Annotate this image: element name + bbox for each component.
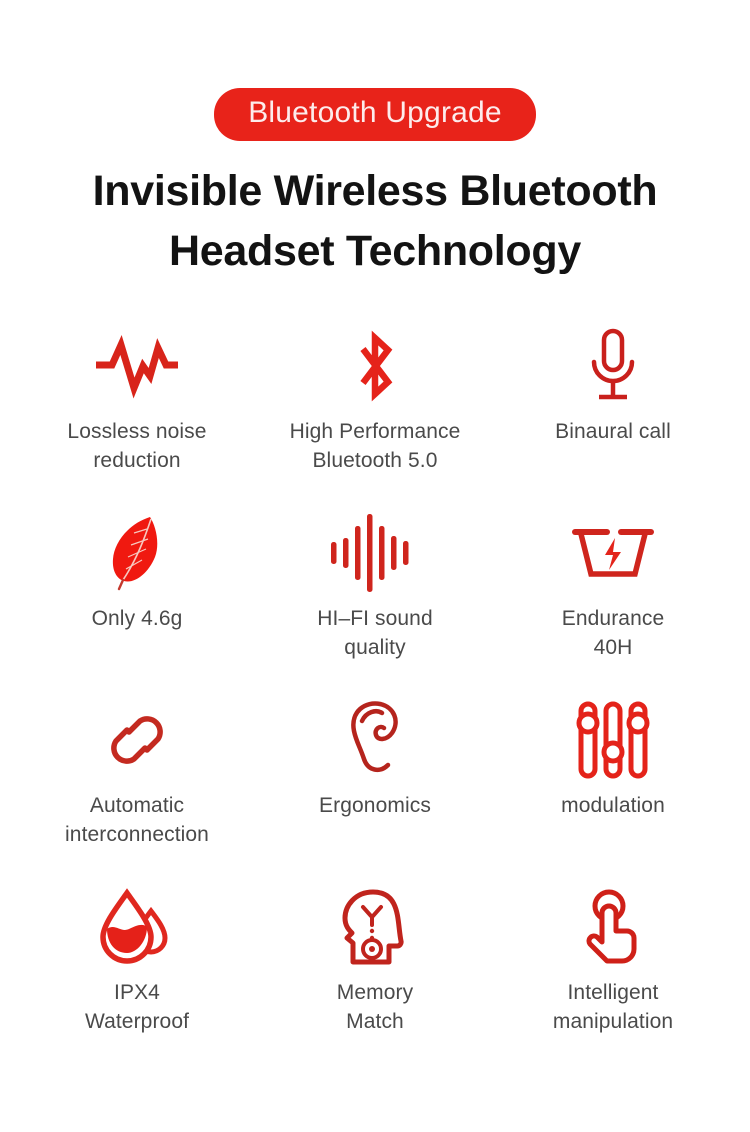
- feature-label: HI–FI sound quality: [317, 604, 433, 662]
- feature-item-ergonomics: Ergonomics: [256, 697, 494, 884]
- icon-container: [571, 510, 655, 596]
- feature-item-high-performance-bluetooth: High Performance Bluetooth 5.0: [256, 323, 494, 510]
- feature-label: Binaural call: [555, 417, 671, 446]
- feature-item-lossless-noise-reduction: Lossless noise reduction: [18, 323, 256, 510]
- feature-item-binaural-call: Binaural call: [494, 323, 732, 510]
- icon-container: [99, 697, 175, 783]
- feature-item-memory-match: Memory Match: [256, 884, 494, 1071]
- head-profile-icon: [339, 888, 411, 966]
- chain-link-icon: [99, 702, 175, 778]
- icon-container: [95, 884, 179, 970]
- bluetooth-icon: [347, 328, 403, 404]
- feature-label: Lossless noise reduction: [67, 417, 206, 475]
- badge-container: Bluetooth Upgrade: [0, 0, 750, 141]
- feature-item-modulation: modulation: [494, 697, 732, 884]
- feature-label: High Performance Bluetooth 5.0: [290, 417, 461, 475]
- icon-container: [327, 510, 423, 596]
- feature-item-automatic-interconnection: Automatic interconnection: [18, 697, 256, 884]
- microphone-icon: [585, 326, 641, 406]
- feature-label: modulation: [561, 791, 665, 820]
- feature-label: Ergonomics: [319, 791, 431, 820]
- tap-hand-icon: [579, 887, 647, 967]
- feature-item-endurance: Endurance 40H: [494, 510, 732, 697]
- feature-item-hifi-sound-quality: HI–FI sound quality: [256, 510, 494, 697]
- icon-container: [344, 697, 406, 783]
- icon-container: [573, 697, 653, 783]
- icon-container: [585, 323, 641, 409]
- feature-item-ipx4-waterproof: IPX4 Waterproof: [18, 884, 256, 1071]
- ear-icon: [344, 699, 406, 781]
- feather-icon: [103, 511, 171, 595]
- icon-container: [339, 884, 411, 970]
- bluetooth-upgrade-badge: Bluetooth Upgrade: [214, 88, 536, 141]
- battery-charge-icon: [571, 522, 655, 584]
- feature-label: Memory Match: [337, 978, 413, 1036]
- water-drops-icon: [95, 889, 179, 965]
- icon-container: [579, 884, 647, 970]
- page-title: Invisible Wireless Bluetooth Headset Tec…: [0, 161, 750, 281]
- icon-container: [347, 323, 403, 409]
- waveform-icon: [94, 338, 180, 394]
- product-feature-page: Bluetooth Upgrade Invisible Wireless Blu…: [0, 0, 750, 1132]
- feature-label: Automatic interconnection: [65, 791, 209, 849]
- icon-container: [94, 323, 180, 409]
- sliders-icon: [573, 700, 653, 780]
- feature-label: IPX4 Waterproof: [85, 978, 189, 1036]
- feature-item-only-weight: Only 4.6g: [18, 510, 256, 697]
- icon-container: [103, 510, 171, 596]
- feature-label: Intelligent manipulation: [553, 978, 673, 1036]
- feature-grid: Lossless noise reduction High Performanc…: [0, 323, 750, 1071]
- sound-bars-icon: [327, 512, 423, 594]
- feature-label: Only 4.6g: [92, 604, 183, 633]
- feature-label: Endurance 40H: [562, 604, 664, 662]
- feature-item-intelligent-manipulation: Intelligent manipulation: [494, 884, 732, 1071]
